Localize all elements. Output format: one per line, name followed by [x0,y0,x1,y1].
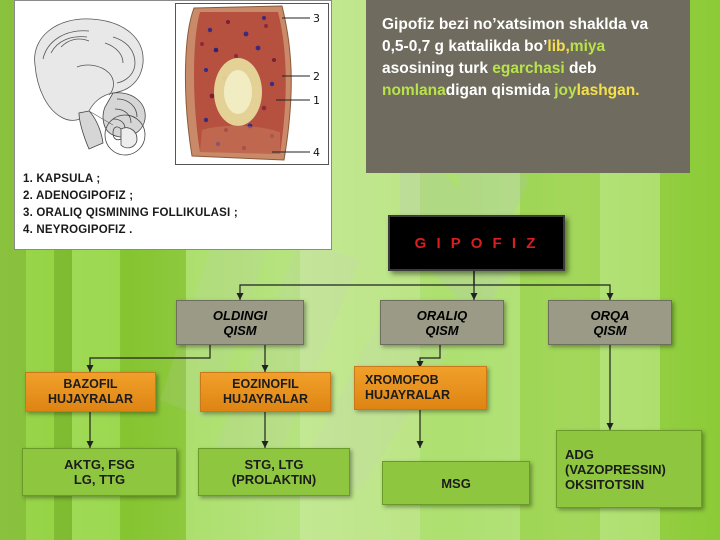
desc-seg-5: deb [565,60,597,77]
node-stg-ltg-prolaktin[interactable]: STG, LTG (PROLAKTIN) [198,448,350,496]
desc-seg-1: lib, [547,38,569,55]
gipofiz-label: G I P O F I Z [415,235,539,252]
node-oraliq-line2: QISM [417,323,468,338]
node-xromofob-hujayralar[interactable]: XROMOFOB HUJAYRALAR [354,366,487,410]
description-panel: Gipofiz bezi no’xatsimon shaklda va 0,5-… [366,0,690,173]
node-oldingi-line1: OLDINGI [213,308,267,323]
desc-seg-6: nomlana [382,82,446,99]
node-orqa-qism[interactable]: ORQA QISM [548,300,672,345]
node-oldingi-qism[interactable]: OLDINGI QISM [176,300,304,345]
figure-panel: 3 2 1 4 1. KAPSULA ; 2. ADENOGIPOFIZ ; 3… [14,0,332,250]
node-adg-vazopressin-oksitotsin[interactable]: ADG (VAZOPRESSIN) OKSITOTSIN [556,430,702,508]
node-msg[interactable]: MSG [382,461,530,505]
node-aktg-line2: LG, TTG [64,472,135,487]
node-adg-line3: OKSITOTSIN [565,477,666,492]
node-stg-line2: (PROLAKTIN) [232,472,317,487]
svg-text:2: 2 [313,70,320,83]
node-aktg-fsg-lg-ttg[interactable]: AKTG, FSG LG, TTG [22,448,177,496]
node-eozinofil-line2: HUJAYRALAR [223,392,308,407]
caption-line-4: 4. NEYROGIPOFIZ . [23,222,323,239]
description-text: Gipofiz bezi no’xatsimon shaklda va 0,5-… [382,14,674,102]
histology-micrograph: 3 2 1 4 [175,3,329,165]
node-oraliq-line1: ORALIQ [417,308,468,323]
node-gipofiz-title[interactable]: G I P O F I Z [388,215,565,271]
caption-line-3: 3. ORALIQ QISMINING FOLLIKULASI ; [23,205,323,222]
desc-seg-2: miya [570,38,605,55]
node-stg-line1: STG, LTG [232,457,317,472]
brain-sagittal-illustration [17,7,173,159]
node-xromofob-line1: XROMOFOB [365,373,450,388]
node-adg-line1: ADG [565,447,666,462]
svg-text:4: 4 [313,146,320,159]
node-eozinofil-line1: EOZINOFIL [223,377,308,392]
node-bazofil-hujayralar[interactable]: BAZOFIL HUJAYRALAR [25,372,156,412]
svg-text:3: 3 [313,12,320,25]
desc-seg-8: joy [554,82,576,99]
caption-line-1: 1. KAPSULA ; [23,171,323,188]
desc-seg-7: digan qismida [446,82,555,99]
node-orqa-line2: QISM [591,323,630,338]
node-bazofil-line2: HUJAYRALAR [48,392,133,407]
node-oldingi-line2: QISM [213,323,267,338]
node-oraliq-qism[interactable]: ORALIQ QISM [380,300,504,345]
desc-seg-0: Gipofiz bezi no’xatsimon shaklda va 0,5-… [382,16,648,55]
slide-canvas: 3 2 1 4 1. KAPSULA ; 2. ADENOGIPOFIZ ; 3… [0,0,720,540]
figure-image: 3 2 1 4 [15,1,331,167]
node-msg-line1: MSG [441,476,471,491]
node-orqa-line1: ORQA [591,308,630,323]
node-eozinofil-hujayralar[interactable]: EOZINOFIL HUJAYRALAR [200,372,331,412]
node-adg-line2: (VAZOPRESSIN) [565,462,666,477]
desc-seg-3: asosining turk [382,60,492,77]
desc-seg-9: lashgan. [577,82,640,99]
node-xromofob-line2: HUJAYRALAR [365,388,450,403]
desc-seg-4: egarchasi [492,60,564,77]
figure-caption: 1. KAPSULA ; 2. ADENOGIPOFIZ ; 3. ORALIQ… [23,171,323,239]
node-aktg-line1: AKTG, FSG [64,457,135,472]
caption-line-2: 2. ADENOGIPOFIZ ; [23,188,323,205]
node-bazofil-line1: BAZOFIL [48,377,133,392]
svg-text:1: 1 [313,94,320,107]
